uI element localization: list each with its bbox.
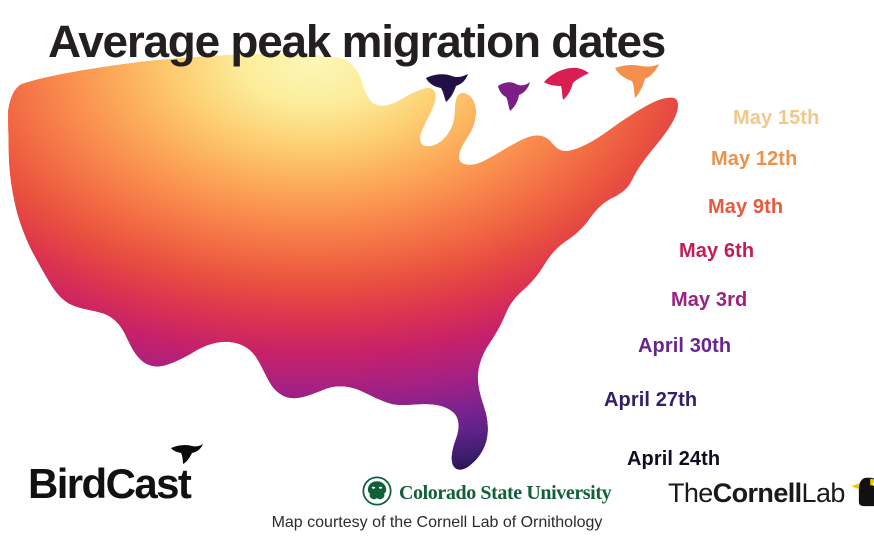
birdcast-logo: BirdCast [28, 463, 190, 505]
legend-label-may-15: May 15th [733, 107, 819, 130]
colorado-state-university-logo: Colorado State University [362, 476, 611, 511]
cornell-lab-logo: The Cornell Lab [668, 474, 874, 513]
cornell-woodpecker-icon [849, 474, 874, 513]
page-title: Average peak migration dates [48, 16, 665, 68]
cornell-lab: Lab [802, 480, 845, 507]
legend-label-may-9: May 9th [708, 196, 783, 219]
birdcast-wordmark: BirdCast [28, 463, 190, 505]
legend-label-may-3: May 3rd [671, 289, 747, 312]
legend-label-may-6: May 6th [679, 240, 754, 263]
legend-label-april-30: April 30th [638, 335, 731, 358]
map-svg [0, 48, 700, 508]
bird-silhouette-4-icon [613, 62, 661, 102]
bird-silhouette-3-icon [543, 66, 593, 104]
csu-wordmark: Colorado State University [399, 482, 611, 505]
infographic-canvas: Average peak migration dates May 15th Ma… [0, 0, 874, 551]
cornell-cornell: Cornell [713, 480, 802, 507]
birdcast-bird-icon [170, 443, 204, 470]
cornell-the: The [668, 480, 713, 507]
legend-label-april-24: April 24th [627, 448, 720, 471]
csu-ram-icon [362, 476, 392, 511]
legend-label-april-27: April 27th [604, 389, 697, 412]
bird-silhouette-1-icon [424, 68, 472, 106]
map-caption: Map courtesy of the Cornell Lab of Ornit… [0, 514, 874, 532]
legend-label-may-12: May 12th [711, 148, 797, 171]
migration-map [0, 48, 700, 508]
bird-silhouette-2-icon [494, 78, 532, 114]
